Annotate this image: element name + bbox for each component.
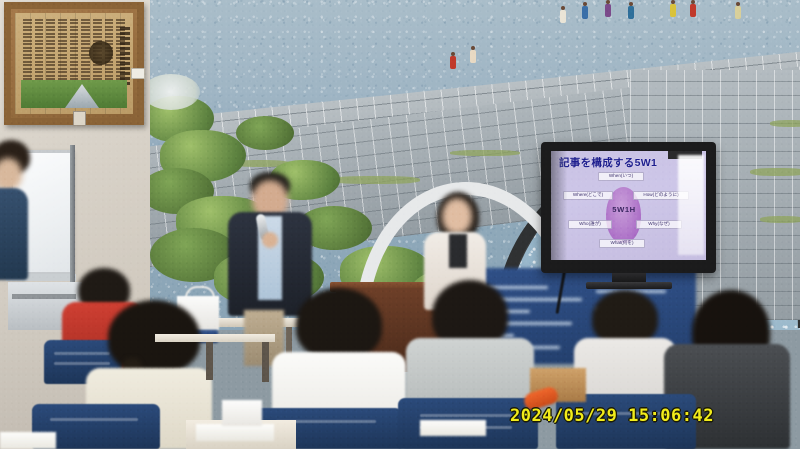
mural-moss (450, 150, 520, 156)
slide-center-label: 5W1H (601, 205, 647, 214)
slide-keyword-what: What(何を) (599, 239, 645, 248)
screenshot-canvas: 記事を構成する5W1 5W1H When(いつ) Where(どこで) How(… (0, 0, 800, 449)
mural-figure (690, 0, 696, 17)
papers-on-desk (0, 432, 56, 449)
plaque-label-tag (73, 111, 86, 126)
mural-figure (450, 52, 456, 69)
papers-on-desk (420, 420, 486, 436)
plaque-painted-scene (21, 80, 127, 108)
mural-figure (470, 46, 476, 63)
timestamp-overlay: 2024/05/29 15:06:42 (510, 406, 714, 426)
mural-figure (560, 6, 566, 23)
mural-figure (628, 2, 634, 19)
mural-figure (605, 0, 611, 17)
screen-glare-left (551, 151, 567, 260)
student-desk (155, 334, 275, 342)
mural-figure (582, 2, 588, 19)
mural-foliage (236, 116, 294, 150)
mural-moss (760, 216, 800, 223)
desk-leg (206, 342, 213, 380)
presentation-display[interactable]: 記事を構成する5W1 5W1H When(いつ) Where(どこで) How(… (541, 142, 716, 273)
wall-switch[interactable] (131, 68, 145, 79)
papers-on-desk (196, 424, 274, 441)
slide-keyword-where: Where(どこで) (563, 191, 613, 200)
plaque-seal-icon (89, 41, 113, 65)
mural-moss (770, 120, 800, 127)
screen-glare-right (678, 155, 704, 255)
mural-moss (750, 168, 800, 176)
presenter-female-inner-top (449, 234, 467, 268)
plaque-title-column (120, 27, 130, 85)
white-card-on-desk (222, 400, 262, 426)
slide-keyword-when: When(いつ) (598, 172, 644, 181)
presenter-female-head-blurred (442, 198, 472, 234)
presenter-male-hand (262, 232, 278, 248)
mural-moss (330, 176, 420, 184)
slide-keyword-who: Who(誰が) (568, 220, 612, 229)
desk-leg (262, 342, 269, 382)
plaque-board (15, 13, 133, 114)
slide-keyword-why: Why(なぜ) (636, 220, 682, 229)
display-stand-base (586, 282, 672, 289)
mural-figure (735, 2, 741, 19)
wooden-wall-plaque (4, 2, 144, 125)
display-screen: 記事を構成する5W1 5W1H When(いつ) Where(どこで) How(… (551, 151, 706, 260)
mural-figure (670, 0, 676, 17)
